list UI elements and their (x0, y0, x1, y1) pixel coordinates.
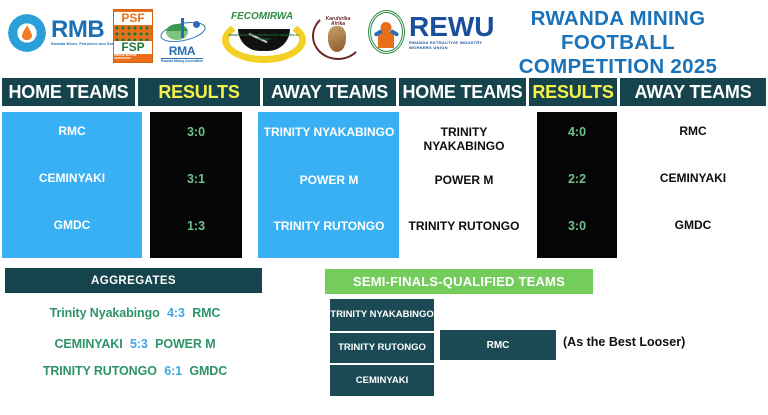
aggregate-1-score: 4:3 (167, 306, 185, 320)
rma-logo: RMA Rwanda Mining Association (160, 18, 204, 63)
semifinal-team-2: TRINITY RUTONGO (330, 333, 434, 363)
semifinal-team-3: CEMINYAKI (330, 365, 434, 396)
aggregates-title: AGGREGATES (5, 268, 262, 293)
aggregate-2-score: 5:3 (130, 337, 148, 351)
leg2-result-3: 3:0 (537, 219, 617, 233)
semifinal-team-1: TRINITY NYAKABINGO (330, 299, 434, 331)
semifinals-title: SEMI-FINALS-QUALIFIED TEAMS (325, 269, 593, 294)
leg1-home-team-1: RMC (2, 125, 142, 139)
leg1-results-header: RESULTS (138, 78, 260, 106)
best-loser-note: (As the Best Looser) (563, 335, 685, 349)
rma-acronym: RMA (169, 45, 195, 57)
leg2-away-team-3: GMDC (620, 219, 766, 233)
leg2-home-team-3: TRINITY RUTONGO (399, 220, 529, 234)
aggregate-2-team-a: CEMINYAKI (54, 337, 122, 351)
aggregate-3-team-b: GMDC (189, 364, 227, 378)
page-title: RWANDA MINING FOOTBALL COMPETITION 2025 (480, 7, 756, 78)
leg2-away-header: AWAY TEAMS (620, 78, 766, 106)
leg2-away-column: RMC CEMINYAKI GMDC (620, 112, 766, 258)
leg1-result-1: 3:0 (150, 125, 242, 139)
leg1-away-header: AWAY TEAMS (263, 78, 396, 106)
rmb-logo: RMB Rwanda Mines, Petroleum and Gas Boar… (8, 14, 126, 52)
karuhirika-figure-icon (328, 26, 346, 52)
aggregate-1-team-b: RMC (192, 306, 220, 320)
aggregate-2-team-b: POWER M (155, 337, 215, 351)
leg1-home-column: RMC CEMINYAKI GMDC (2, 112, 142, 258)
leg1-home-header: HOME TEAMS (2, 78, 135, 106)
leg2-home-team-1: TRINITY NYAKABINGO (399, 126, 529, 154)
leg2-away-team-1: RMC (620, 125, 766, 139)
title-line-1: RWANDA MINING (480, 7, 756, 31)
leg1-away-team-1: TRINITY NYAKABINGO (258, 126, 400, 140)
leg2-home-team-2: POWER M (399, 174, 529, 188)
leg2-result-2: 2:2 (537, 172, 617, 186)
leg2-home-header: HOME TEAMS (399, 78, 526, 106)
title-line-2: FOOTBALL (480, 31, 756, 55)
sponsor-logo-bar: RMB Rwanda Mines, Petroleum and Gas Boar… (0, 0, 500, 72)
aggregate-3-team-a: TRINITY RUTONGO (43, 364, 157, 378)
leg2-results-column: 4:0 2:2 3:0 (537, 112, 617, 258)
leg2-results-header: RESULTS (529, 78, 617, 106)
aggregate-row-3: TRINITY RUTONGO 6:1 GMDC (4, 364, 266, 378)
leg1-result-2: 3:1 (150, 172, 242, 186)
rma-caption: Rwanda Mining Association (161, 58, 203, 63)
rma-globe-icon (160, 18, 204, 44)
karuhirika-afrika-logo: Karuhirika Afrika (312, 12, 364, 60)
leg1-home-team-2: CEMINYAKI (2, 172, 142, 186)
psf-fsp-logo: PSF FSP PRIVATE SECTOR FEDERATION (113, 9, 153, 63)
leg1-results-column: 3:0 3:1 1:3 (150, 112, 242, 258)
leg1-home-team-3: GMDC (2, 219, 142, 233)
rewu-emblem-icon (368, 10, 405, 54)
leg1-away-team-3: TRINITY RUTONGO (258, 220, 400, 234)
psf-top-text: PSF (114, 12, 152, 25)
leg1-away-team-2: POWER M (258, 174, 400, 188)
psf-bottom-text: FSP (114, 41, 152, 54)
leg2-away-team-2: CEMINYAKI (620, 172, 766, 186)
leg1-result-3: 1:3 (150, 219, 242, 233)
leg2-result-1: 4:0 (537, 125, 617, 139)
aggregate-1-team-a: Trinity Nyakabingo (50, 306, 160, 320)
leg1-away-column: TRINITY NYAKABINGO POWER M TRINITY RUTON… (258, 112, 400, 258)
psf-pattern-icon (114, 25, 152, 41)
title-line-3: COMPETITION 2025 (480, 55, 756, 79)
aggregate-row-1: Trinity Nyakabingo 4:3 RMC (4, 306, 266, 320)
karuhirika-caption: Karuhirika Afrika (320, 17, 356, 28)
aggregate-3-score: 6:1 (164, 364, 182, 378)
rmb-gear-icon (8, 14, 46, 52)
fecomirwa-caption: FEDERATION DES COOPERATIVES MINIERES AU … (226, 33, 302, 63)
aggregate-row-2: CEMINYAKI 5:3 POWER M (4, 337, 266, 351)
leg2-home-column: TRINITY NYAKABINGO POWER M TRINITY RUTON… (399, 112, 529, 258)
poster-root: RMB Rwanda Mines, Petroleum and Gas Boar… (0, 0, 768, 415)
fecomirwa-logo: FECOMIRWA FEDERATION DES COOPERATIVES MI… (218, 7, 310, 65)
fecomirwa-acronym: FECOMIRWA (231, 11, 293, 22)
semifinal-best-loser-team: RMC (440, 330, 556, 360)
psf-caption: PRIVATE SECTOR FEDERATION (114, 54, 152, 60)
